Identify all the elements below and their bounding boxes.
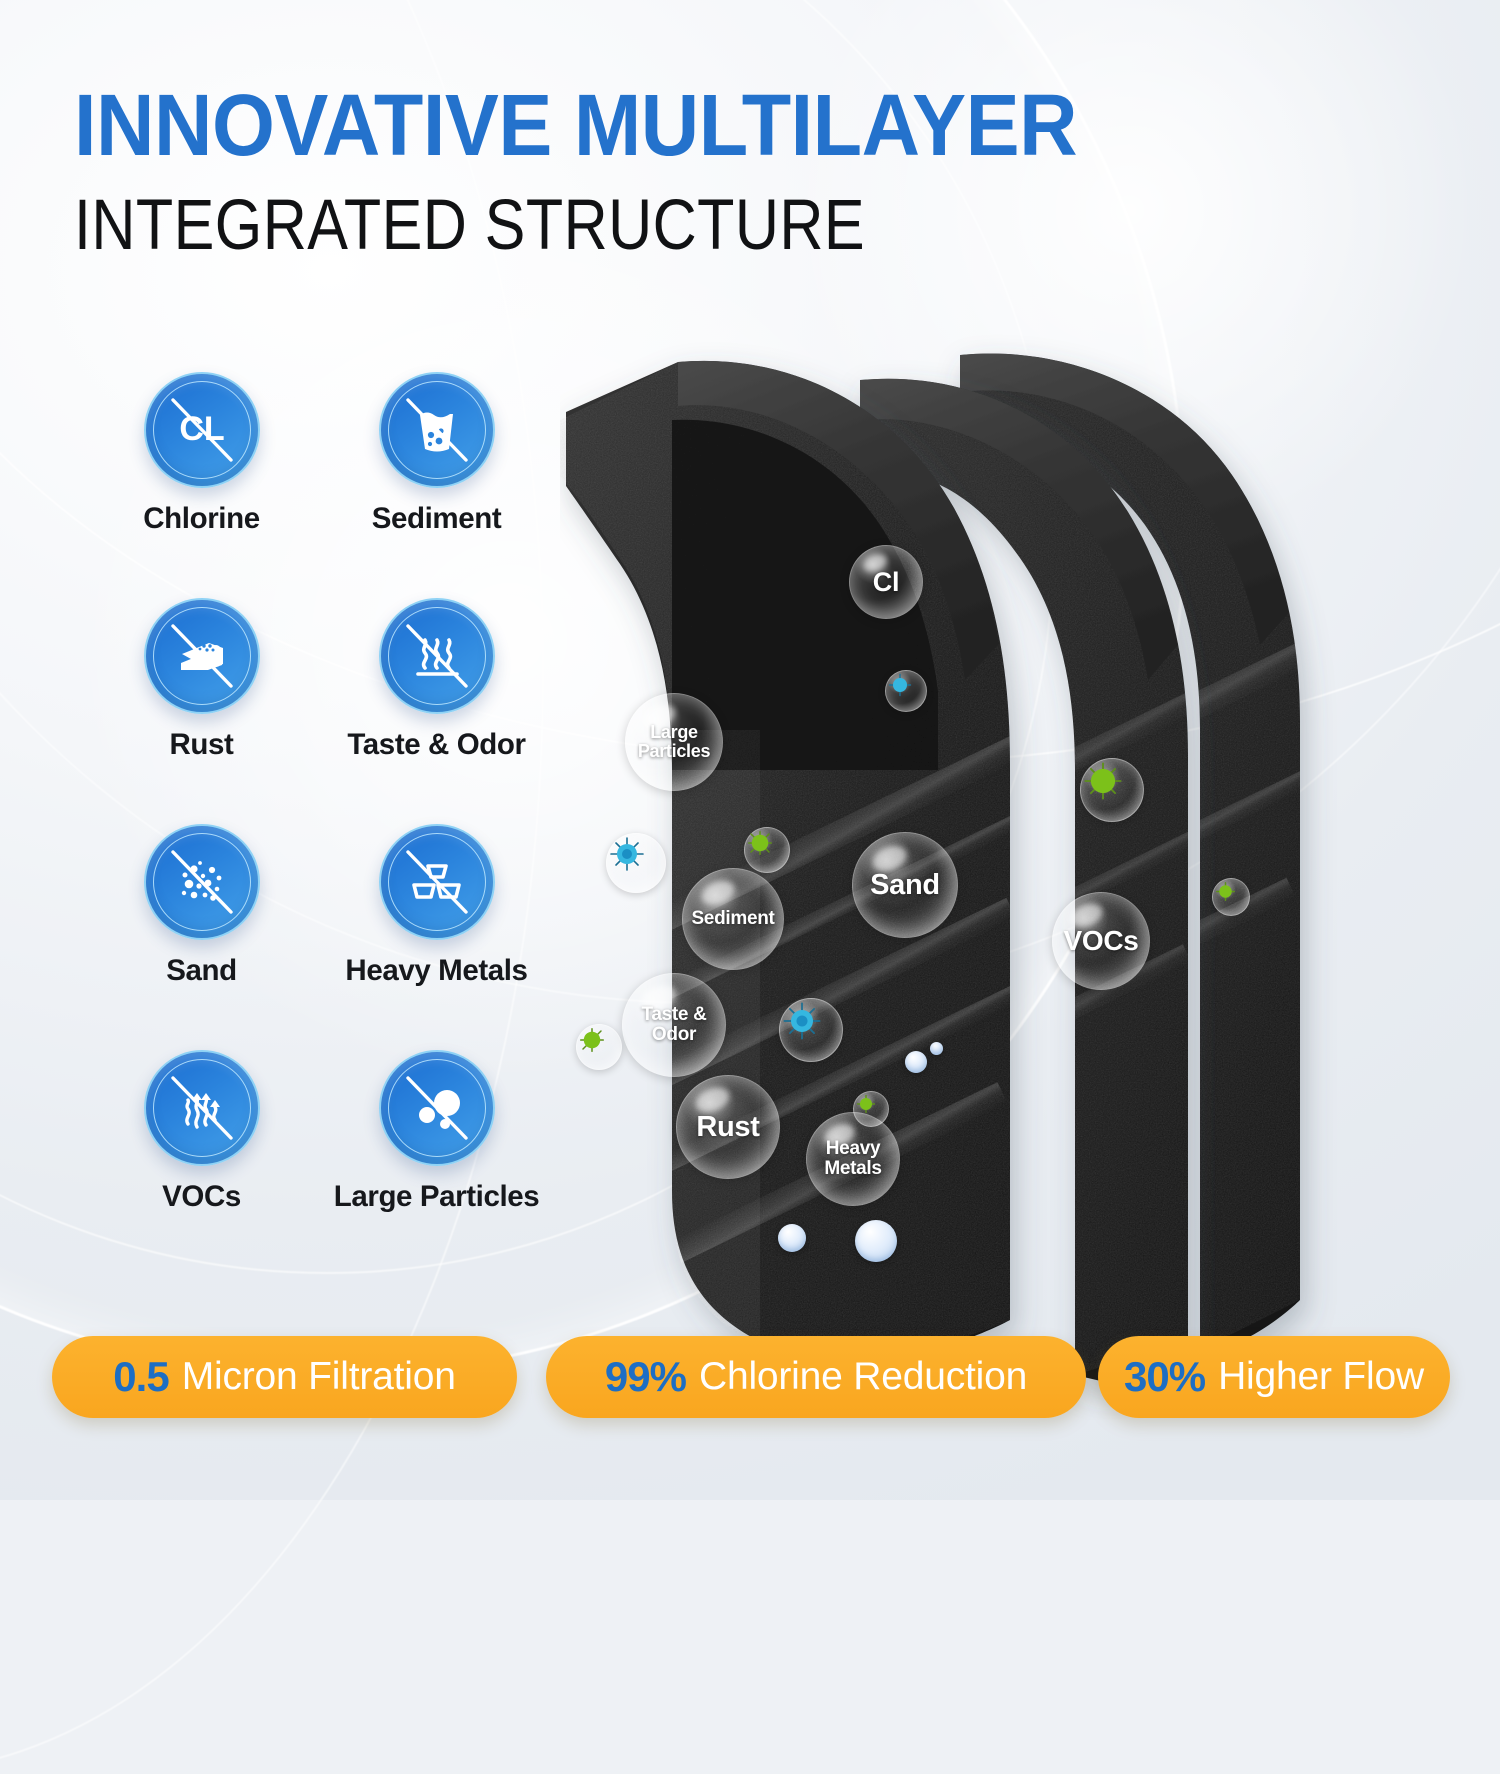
vocs-vapor-no-icon (144, 1050, 260, 1166)
bubble-taste-odor: Taste & Odor (622, 973, 726, 1077)
icon-row: VOCs Large Particles (84, 1050, 554, 1214)
bacteria-green-microbe-icon (576, 1024, 622, 1070)
icon-row: CL Chlorine Sediment (84, 372, 554, 536)
icon-label: Chlorine (143, 502, 259, 536)
icon-item-heavy-metals[interactable]: Heavy Metals (319, 824, 554, 988)
virus-blue-microbe-icon (885, 670, 927, 712)
sand-particles-no-icon (144, 824, 260, 940)
stat-badges: 0.5 Micron Filtration 99% Chlorine Reduc… (0, 1336, 1500, 1428)
virus-blue-microbe-icon (606, 833, 666, 893)
bubble-large-particles: Large Particles (625, 693, 723, 791)
bacteria-green-microbe-icon (744, 827, 790, 873)
icon-item-rust[interactable]: Rust (84, 598, 319, 762)
icon-item-taste-odor[interactable]: Taste & Odor (319, 598, 554, 762)
chlorine-cl-no-icon: CL (144, 372, 260, 488)
large-particles-no-icon (379, 1050, 495, 1166)
bacteria-green-microbe-icon (1212, 878, 1250, 916)
bubble-sand: Sand (852, 832, 958, 938)
bubble-rust: Rust (676, 1075, 780, 1179)
icon-label: Large Particles (334, 1180, 540, 1214)
bacteria-green-microbe-icon (1080, 758, 1144, 822)
icon-label: VOCs (162, 1180, 241, 1214)
carbon-block-layers (560, 300, 1460, 1420)
badge-text: Micron Filtration (182, 1355, 456, 1399)
icon-label: Sand (166, 954, 237, 988)
bubble-sediment: Sediment (682, 868, 784, 970)
icon-row: Rust Taste & Odor (84, 598, 554, 762)
badge-number: 99% (605, 1353, 686, 1401)
water-droplet (930, 1042, 943, 1055)
icon-item-large-particles[interactable]: Large Particles (319, 1050, 554, 1214)
sediment-glass-no-icon (379, 372, 495, 488)
taste-odor-waves-no-icon (379, 598, 495, 714)
water-droplet (905, 1051, 927, 1073)
page-subtitle: INTEGRATED STRUCTURE (74, 190, 1192, 261)
badge-number: 30% (1124, 1353, 1205, 1401)
bubble-heavy-metals: Heavy Metals (806, 1112, 900, 1206)
icon-label: Rust (170, 728, 234, 762)
icon-label: Taste & Odor (347, 728, 525, 762)
icon-item-sand[interactable]: Sand (84, 824, 319, 988)
icon-row: Sand Heavy Metals (84, 824, 554, 988)
page-title: INNOVATIVE MULTILAYER (74, 85, 1283, 168)
badge-micron-filtration[interactable]: 0.5 Micron Filtration (52, 1336, 517, 1418)
contaminant-icon-grid: CL Chlorine Sediment (84, 372, 554, 1224)
product-image: Cl Large Particles Sediment Sand Taste &… (560, 300, 1460, 1420)
rust-pipe-no-icon (144, 598, 260, 714)
heavy-metals-ingots-no-icon (379, 824, 495, 940)
icon-label: Heavy Metals (345, 954, 527, 988)
badge-higher-flow[interactable]: 30% Higher Flow (1098, 1336, 1450, 1418)
headline-block: INNOVATIVE MULTILAYER INTEGRATED STRUCTU… (74, 85, 1374, 261)
badge-text: Chlorine Reduction (699, 1355, 1027, 1399)
badge-text: Higher Flow (1218, 1355, 1424, 1399)
virus-blue-microbe-icon (779, 998, 843, 1062)
icon-item-vocs[interactable]: VOCs (84, 1050, 319, 1214)
badge-chlorine-reduction[interactable]: 99% Chlorine Reduction (546, 1336, 1086, 1418)
bacteria-green-microbe-icon (853, 1091, 889, 1127)
water-droplet (778, 1224, 806, 1252)
water-droplet (855, 1220, 897, 1262)
icon-item-sediment[interactable]: Sediment (319, 372, 554, 536)
badge-number: 0.5 (113, 1353, 168, 1401)
icon-label: Sediment (372, 502, 502, 536)
bubble-chlorine: Cl (849, 545, 923, 619)
icon-item-chlorine[interactable]: CL Chlorine (84, 372, 319, 536)
bubble-vocs: VOCs (1052, 892, 1150, 990)
